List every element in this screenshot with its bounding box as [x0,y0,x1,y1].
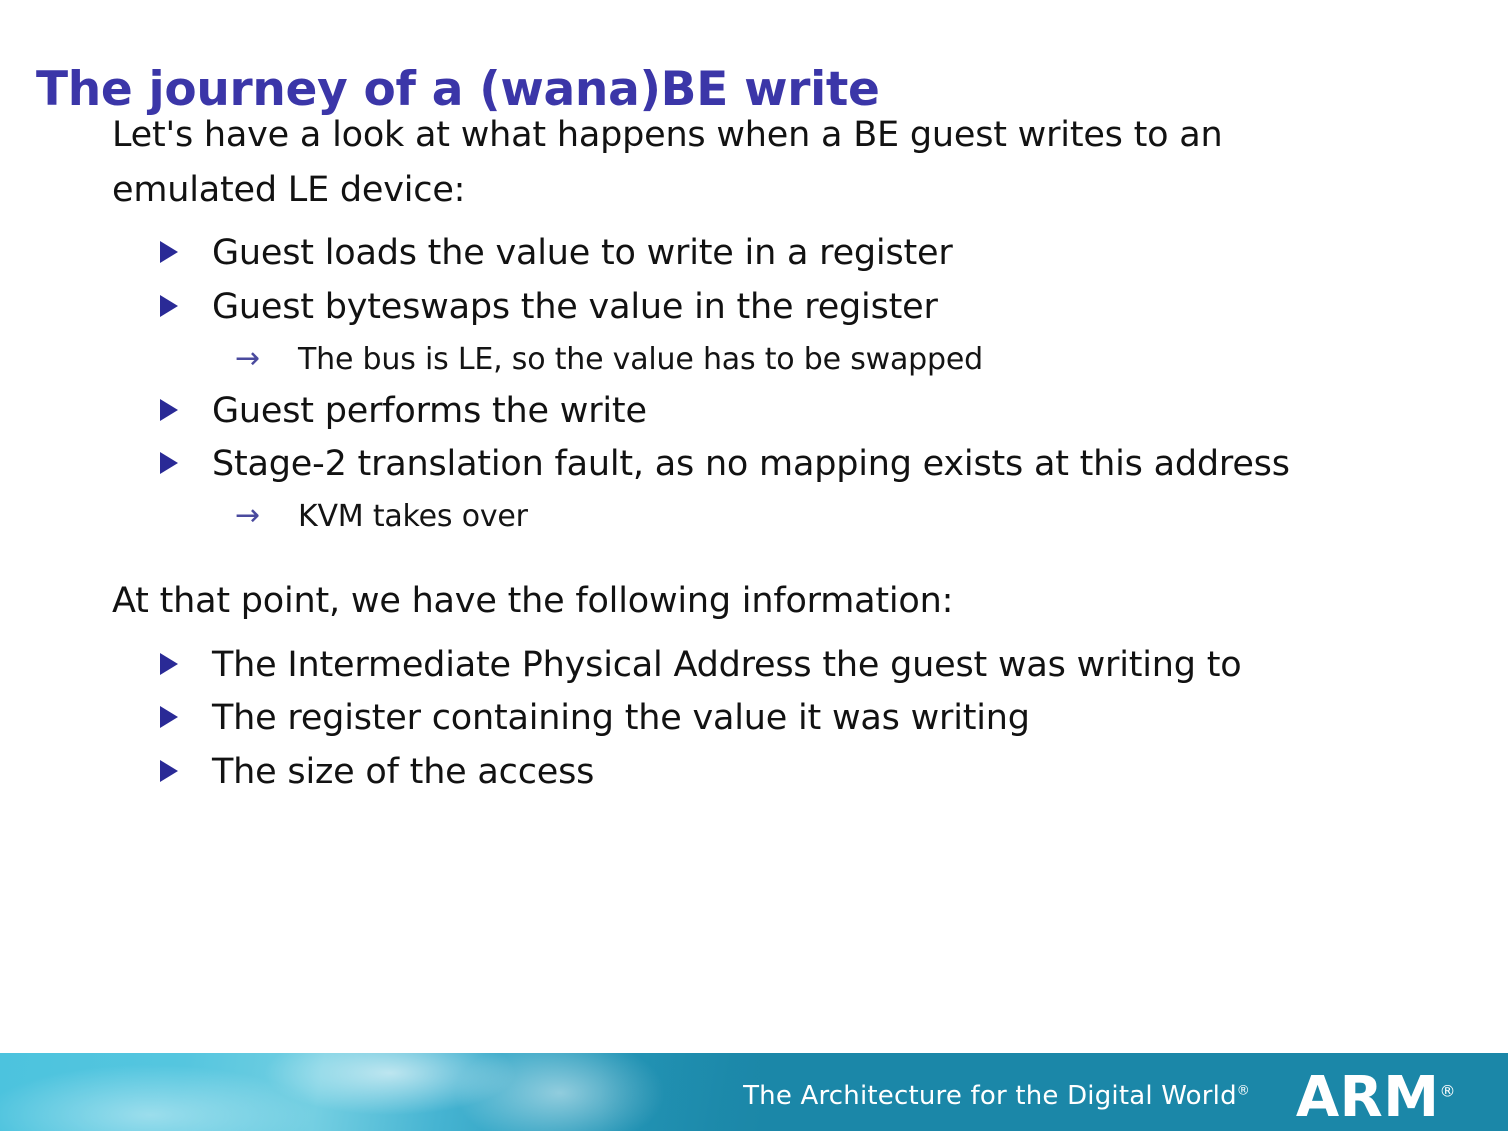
list-item: The Intermediate Physical Address the gu… [212,639,1508,693]
list-item-label: Guest loads the value to write in a regi… [212,233,953,273]
arm-logo: ARM® [1296,1065,1456,1130]
arm-logo-text: ARM [1296,1065,1440,1130]
triangle-right-icon [160,653,178,675]
triangle-right-icon [160,452,178,474]
list-item: Guest loads the value to write in a regi… [212,227,1508,281]
list-item: The register containing the value it was… [212,692,1508,746]
list-item-label: Stage-2 translation fault, as no mapping… [212,444,1290,484]
list-item: Stage-2 translation fault, as no mapping… [212,438,1508,492]
sub-list: → KVM takes over [0,494,1508,540]
registered-mark-icon: ® [1237,1083,1250,1098]
list-item-label: The register containing the value it was… [212,698,1030,738]
list-item-label: The Intermediate Physical Address the gu… [212,645,1241,685]
registered-mark-icon: ® [1440,1081,1457,1100]
list-item-label: Guest byteswaps the value in the registe… [212,287,938,327]
slide-body: Let's have a look at what happens when a… [0,108,1508,800]
slide-canvas: The journey of a (wana)BE write Let's ha… [0,0,1508,1131]
list-item: The size of the access [212,746,1508,800]
footer-tagline-text: The Architecture for the Digital World [743,1081,1237,1111]
list-item-label: The size of the access [212,752,594,792]
sub-list: → The bus is LE, so the value has to be … [0,337,1508,383]
second-paragraph: At that point, we have the following inf… [112,574,1382,629]
triangle-right-icon [160,295,178,317]
arrow-right-icon: → [235,493,260,539]
intro-paragraph: Let's have a look at what happens when a… [112,108,1382,217]
triangle-right-icon [160,241,178,263]
sub-list-item: → The bus is LE, so the value has to be … [298,337,1508,383]
information-list: The Intermediate Physical Address the gu… [0,639,1508,801]
sub-list-item: → KVM takes over [298,494,1508,540]
slide-footer: The Architecture for the Digital World® … [0,1053,1508,1131]
arrow-right-icon: → [235,336,260,382]
sub-list-item-label: The bus is LE, so the value has to be sw… [298,342,983,377]
triangle-right-icon [160,760,178,782]
list-item: Guest byteswaps the value in the registe… [212,281,1508,335]
list-item: Guest performs the write [212,385,1508,439]
sub-list-item-label: KVM takes over [298,499,528,534]
footer-tagline: The Architecture for the Digital World® [743,1081,1250,1111]
list-item-label: Guest performs the write [212,391,647,431]
steps-list: Guest loads the value to write in a regi… [0,227,1508,540]
triangle-right-icon [160,706,178,728]
triangle-right-icon [160,399,178,421]
